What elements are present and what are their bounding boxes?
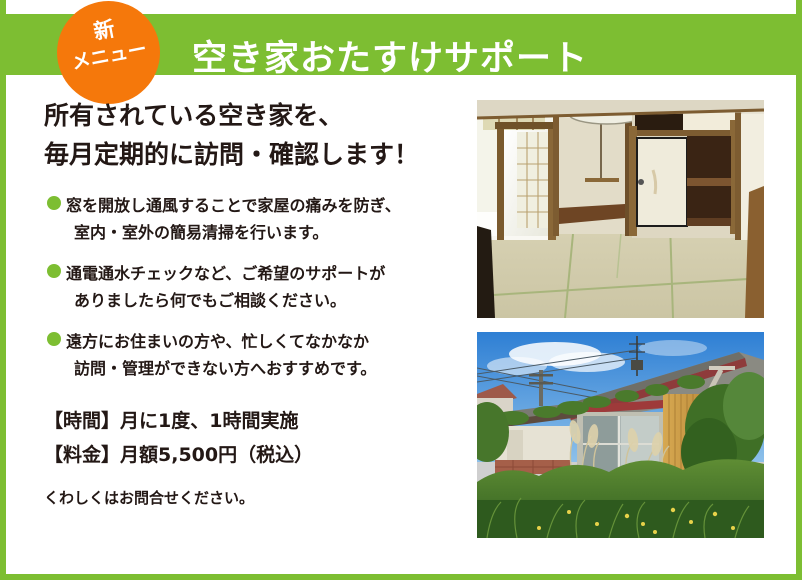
contact-note: くわしくはお問合せください。 [44,486,464,510]
list-item-line-1: 通電通水チェックなど、ご希望のサポートが [66,264,385,283]
list-item-text: 窓を開放し通風することで家屋の痛みを防ぎ、 室内・室外の簡易清掃を行います。 [44,192,464,246]
list-item: 窓を開放し通風することで家屋の痛みを防ぎ、 室内・室外の簡易清掃を行います。 [44,192,464,246]
photo-tatami-room [477,100,764,318]
list-item-line-2: 室内・室外の簡易清掃を行います。 [66,219,464,246]
list-item: 遠方にお住まいの方や、忙しくてなかなか 訪問・管理ができない方へおすすめです。 [44,328,464,382]
advertisement-card: 空き家おたすけサポート 新 メニュー 所有されている空き家を、 毎月定期的に訪問… [0,0,802,580]
new-menu-badge: 新 メニュー [57,1,160,104]
terms-block: 【時間】月に1度、1時間実施 【料金】月額5,500円（税込） [44,404,464,472]
photo-abandoned-house-image [477,332,764,538]
bullet-circle-icon [47,264,61,278]
bullet-circle-icon [47,332,61,346]
content-column: 所有されている空き家を、 毎月定期的に訪問・確認します！ 窓を開放し通風すること… [44,96,464,510]
feature-list: 窓を開放し通風することで家屋の痛みを防ぎ、 室内・室外の簡易清掃を行います。 通… [44,192,464,382]
bullet-circle-icon [47,196,61,210]
page-title: 空き家おたすけサポート [192,32,752,86]
photo-abandoned-house [477,332,764,538]
list-item-line-2: ありましたら何でもご相談ください。 [66,287,464,314]
term-duration: 【時間】月に1度、1時間実施 [44,404,464,438]
list-item-line-1: 遠方にお住まいの方や、忙しくてなかなか [66,332,369,351]
lead-line-2: 毎月定期的に訪問・確認します！ [44,135,464,174]
lead-paragraph: 所有されている空き家を、 毎月定期的に訪問・確認します！ [44,96,464,174]
new-menu-badge-inner: 新 メニュー [57,1,160,104]
list-item: 通電通水チェックなど、ご希望のサポートが ありましたら何でもご相談ください。 [44,260,464,314]
list-item-line-1: 窓を開放し通風することで家屋の痛みを防ぎ、 [66,196,401,215]
list-item-line-2: 訪問・管理ができない方へおすすめです。 [66,355,464,382]
list-item-text: 遠方にお住まいの方や、忙しくてなかなか 訪問・管理ができない方へおすすめです。 [44,328,464,382]
list-item-text: 通電通水チェックなど、ご希望のサポートが ありましたら何でもご相談ください。 [44,260,464,314]
photo-tatami-room-image [477,100,764,318]
term-price: 【料金】月額5,500円（税込） [44,438,464,472]
lead-line-1: 所有されている空き家を、 [44,96,464,135]
